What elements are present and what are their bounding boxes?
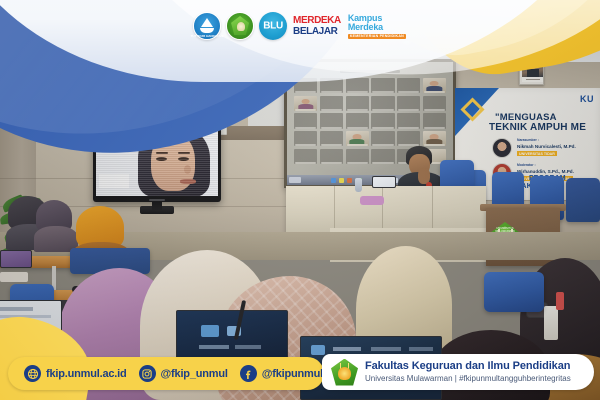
tut-wuri-icon — [201, 18, 213, 27]
faculty-text-block: Fakultas Keguruan dan Ilmu Pendidikan Un… — [365, 360, 571, 384]
website-handle: fkip.unmul.ac.id — [46, 368, 127, 380]
banner-speaker-name: Nikmah Nurvicalesti, M.Pd. — [517, 144, 576, 149]
blu-label: BLU — [259, 21, 287, 32]
participant-tile — [397, 113, 420, 128]
faculty-subtitle: Universitas Mulawarman | #fkipunmultangg… — [365, 373, 571, 384]
merdeka-line2: BELAJAR — [293, 26, 341, 37]
tut-wuri-label: TUT WURI HANDAYANI — [191, 34, 224, 38]
laptop-screen — [0, 250, 32, 268]
participant-tile — [346, 96, 369, 111]
blue-chair — [484, 272, 544, 312]
participant-tile — [397, 78, 420, 93]
faculty-identity-bar: Fakultas Keguruan dan Ilmu Pendidikan Un… — [322, 354, 594, 390]
universitas-mulawarman-logo — [226, 12, 254, 40]
event-photo-graphic: KU "MENGUASA TEKNIK AMPUH ME Narasumber … — [0, 0, 600, 400]
taskbar-app-icon — [339, 178, 344, 183]
participant-tile — [397, 96, 420, 111]
faculty-title: Fakultas Keguruan dan Ilmu Pendidikan — [365, 360, 571, 373]
participant-tile — [294, 131, 317, 146]
banner-title-line2: TEKNIK AMPUH ME — [489, 122, 586, 133]
notebook — [0, 272, 28, 282]
blu-logo: BLU — [259, 12, 287, 40]
participant-tile — [346, 131, 369, 146]
participant-tile — [371, 149, 394, 164]
water-bottle — [355, 178, 362, 192]
globe-icon — [24, 365, 41, 382]
participant-tile — [346, 149, 369, 164]
participant-tile — [371, 131, 394, 146]
participant-tile — [371, 78, 394, 93]
participant-tile — [346, 78, 369, 93]
participant-tile — [320, 131, 343, 146]
social-media-bar: fkip.unmul.ac.id @fkip_unmul @fkipunmulo… — [8, 357, 324, 390]
participant-tile — [294, 96, 317, 111]
participant-tile — [423, 96, 446, 111]
partner-logo-strip: TUT WURI HANDAYANI BLU MERDEKA BELAJAR K… — [0, 10, 600, 42]
laptop-screen — [372, 176, 396, 188]
website-social-item[interactable]: fkip.unmul.ac.id — [24, 365, 127, 382]
kampus-line2: Merdeka — [348, 23, 406, 33]
desk-item — [360, 196, 384, 205]
banner-speaker-role: Narasumber : — [517, 138, 539, 142]
portrait-caption — [522, 77, 543, 82]
instagram-icon — [139, 365, 156, 382]
banner-kui-text: KU — [580, 94, 594, 104]
presenter-laptop — [372, 176, 398, 190]
participant-tile — [371, 96, 394, 111]
crest-emblem — [237, 22, 245, 31]
banner-moderator-name: Wirhanuddin, S.Pd., M.Pd. — [517, 169, 574, 174]
banner-speaker-affiliation: UNIVERSITAS TIDAR — [517, 151, 557, 156]
taskbar-app-icon — [347, 178, 352, 183]
kampus-merdeka-logo: Kampus Merdeka KEMENTERIAN PENDIDIKAN — [347, 13, 407, 39]
audience-laptop — [0, 250, 34, 272]
pen — [556, 292, 564, 310]
participant-tile — [294, 149, 317, 164]
kampus-tagline: KEMENTERIAN PENDIDIKAN — [348, 34, 406, 39]
participant-tile — [320, 96, 343, 111]
participant-tile — [371, 113, 394, 128]
start-button-icon — [289, 177, 301, 183]
instagram-social-item[interactable]: @fkip_unmul — [139, 365, 228, 382]
participant-tile — [320, 113, 343, 128]
participant-tile — [294, 113, 317, 128]
banner-moderator-role: Moderator : — [517, 163, 536, 167]
facebook-icon — [240, 365, 257, 382]
banner-speaker-photo — [492, 138, 512, 158]
merdeka-belajar-logo: MERDEKA BELAJAR — [292, 13, 342, 39]
audience-person — [36, 200, 74, 250]
participant-tile — [423, 113, 446, 128]
unmul-crest-icon — [331, 359, 358, 386]
paper-stack — [544, 306, 558, 340]
participant-tile — [320, 149, 343, 164]
participant-tile — [423, 131, 446, 146]
participant-tile — [423, 78, 446, 93]
blue-chair — [566, 178, 600, 222]
participant-tile — [397, 131, 420, 146]
instagram-handle: @fkip_unmul — [161, 368, 228, 380]
tv-brand-mark — [149, 199, 165, 201]
tut-wuri-handayani-logo: TUT WURI HANDAYANI — [193, 12, 221, 40]
tut-wuri-wing — [200, 28, 214, 33]
crest-emblem — [338, 367, 351, 380]
taskbar-app-icon — [331, 178, 336, 183]
merdeka-line1: MERDEKA — [293, 15, 341, 26]
participant-tile — [346, 113, 369, 128]
